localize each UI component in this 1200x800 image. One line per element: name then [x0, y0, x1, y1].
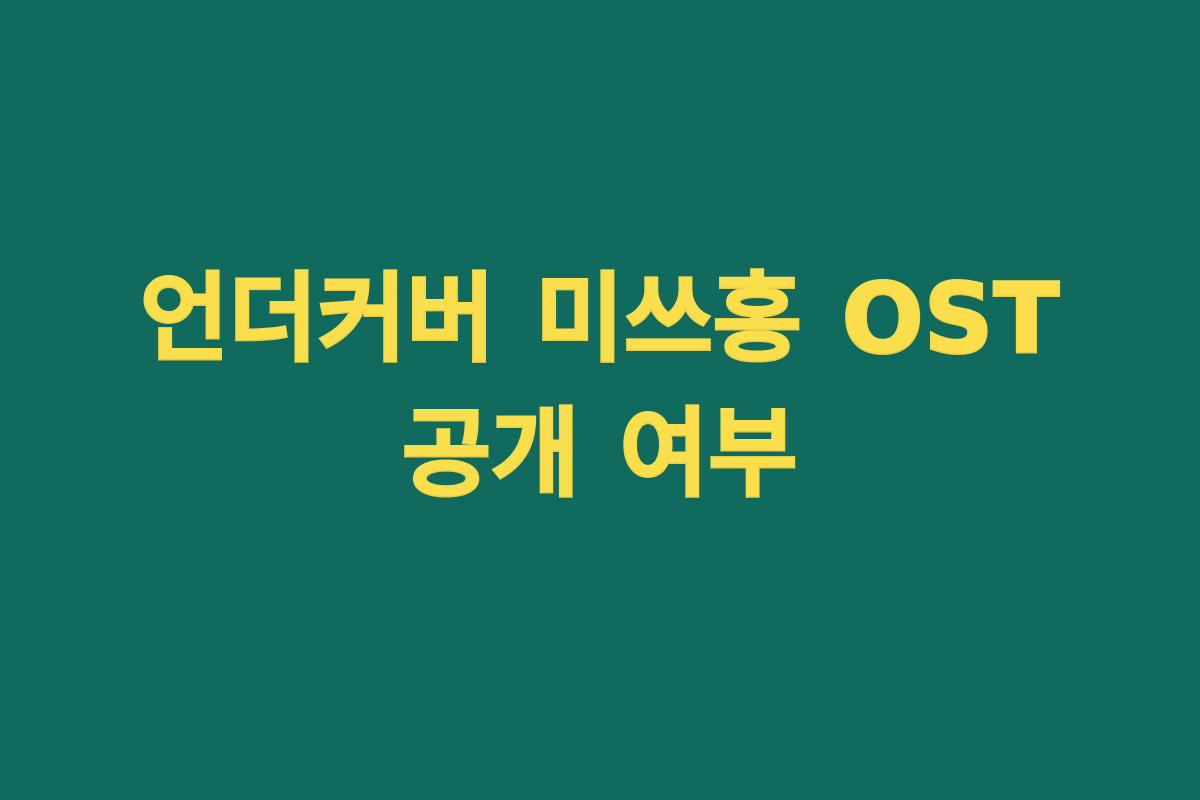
- text-banner: 언더커버 미쓰홍 OST 공개 여부: [0, 0, 1200, 800]
- headline-text: 언더커버 미쓰홍 OST 공개 여부: [90, 252, 1110, 522]
- headline-block: 언더커버 미쓰홍 OST 공개 여부: [90, 252, 1110, 522]
